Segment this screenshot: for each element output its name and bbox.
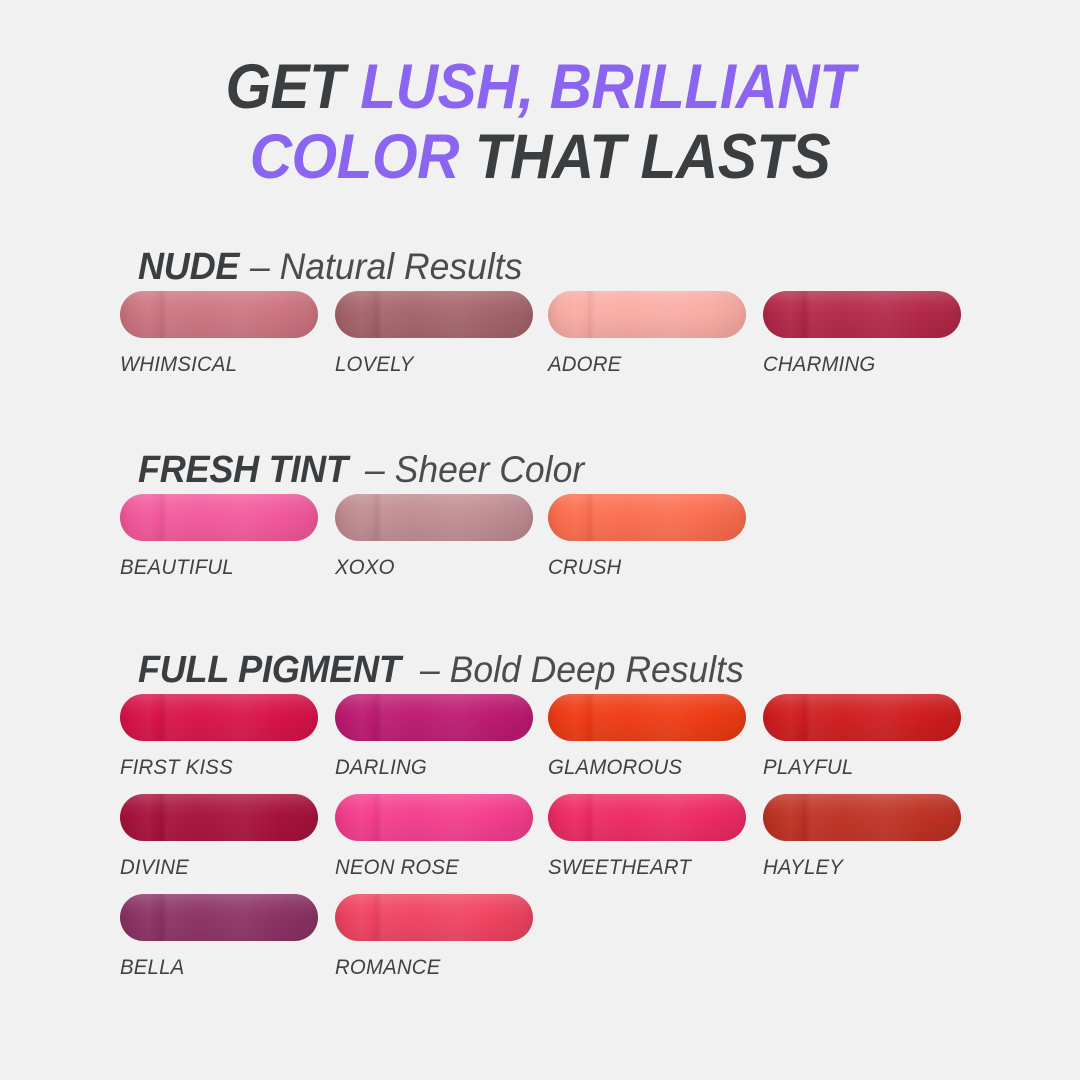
swatch-swipe-darling[interactable]	[335, 694, 533, 741]
swatch-swipe-lovely[interactable]	[335, 291, 533, 338]
headline-text-get: GET	[225, 52, 360, 122]
swatch-cell-sweetheart[interactable]: SWEETHEART	[548, 794, 746, 880]
swatch-label-romance: ROMANCE	[335, 956, 527, 980]
swatch-swipe-sweetheart[interactable]	[548, 794, 746, 841]
swatch-label-darling: DARLING	[335, 756, 527, 780]
section-fresh-tint: FRESH TINT– Sheer Color BEAUTIFUL XOXO C…	[0, 446, 1080, 594]
section-subtitle-fresh-tint: – Sheer Color	[365, 446, 584, 494]
swatch-cell-playful[interactable]: PLAYFUL	[763, 694, 961, 780]
swatch-swipe-adore[interactable]	[548, 291, 746, 338]
swatch-label-hayley: HAYLEY	[763, 856, 955, 880]
swatch-cell-divine[interactable]: DIVINE	[120, 794, 318, 880]
swatch-cell-charming[interactable]: CHARMING	[763, 291, 961, 377]
swatch-cell-beautiful[interactable]: BEAUTIFUL	[120, 494, 318, 580]
section-header-fresh-tint: FRESH TINT– Sheer Color	[138, 446, 1080, 494]
swatch-label-crush: CRUSH	[548, 556, 740, 580]
headline-line-2: COLOR THAT LASTS	[38, 122, 1042, 192]
swatch-swipe-bella[interactable]	[120, 894, 318, 941]
swatch-cell-neon-rose[interactable]: NEON ROSE	[335, 794, 533, 880]
section-title-full-pigment: FULL PIGMENT	[138, 646, 401, 694]
swatch-label-whimsical: WHIMSICAL	[120, 353, 312, 377]
swatch-swipe-hayley[interactable]	[763, 794, 961, 841]
swatch-swipe-divine[interactable]	[120, 794, 318, 841]
section-title-fresh-tint: FRESH TINT	[138, 446, 348, 494]
swatch-cell-romance[interactable]: ROMANCE	[335, 894, 533, 980]
swatch-cell-xoxo[interactable]: XOXO	[335, 494, 533, 580]
swatch-label-bella: BELLA	[120, 956, 312, 980]
section-header-full-pigment: FULL PIGMENT– Bold Deep Results	[138, 646, 1080, 694]
shade-chart-page: GET LUSH, BRILLIANT COLOR THAT LASTS NUD…	[0, 0, 1080, 1080]
swatch-cell-hayley[interactable]: HAYLEY	[763, 794, 961, 880]
swatch-swipe-romance[interactable]	[335, 894, 533, 941]
swatch-label-playful: PLAYFUL	[763, 756, 955, 780]
swatch-label-sweetheart: SWEETHEART	[548, 856, 740, 880]
swatch-cell-adore[interactable]: ADORE	[548, 291, 746, 377]
swatch-row: WHIMSICAL LOVELY ADORE CHARMING	[120, 291, 1080, 391]
swatch-cell-bella[interactable]: BELLA	[120, 894, 318, 980]
swatch-cell-whimsical[interactable]: WHIMSICAL	[120, 291, 318, 377]
section-title-nude: NUDE	[138, 243, 239, 291]
swatch-label-first-kiss: FIRST KISS	[120, 756, 312, 780]
section-header-nude: NUDE– Natural Results	[138, 243, 1080, 291]
page-headline: GET LUSH, BRILLIANT COLOR THAT LASTS	[38, 52, 1042, 192]
headline-text-lush-brilliant: LUSH, BRILLIANT	[360, 52, 854, 122]
section-subtitle-nude: – Natural Results	[250, 243, 522, 291]
swatch-label-beautiful: BEAUTIFUL	[120, 556, 312, 580]
swatch-cell-glamorous[interactable]: GLAMOROUS	[548, 694, 746, 780]
swatch-swipe-first-kiss[interactable]	[120, 694, 318, 741]
swatch-row: DIVINE NEON ROSE SWEETHEART HAYLEY	[120, 794, 1080, 894]
headline-line-1: GET LUSH, BRILLIANT	[38, 52, 1042, 122]
swatch-swipe-beautiful[interactable]	[120, 494, 318, 541]
swatch-cell-first-kiss[interactable]: FIRST KISS	[120, 694, 318, 780]
headline-text-that-lasts: THAT LASTS	[475, 122, 831, 192]
swatch-swipe-charming[interactable]	[763, 291, 961, 338]
swatch-swipe-playful[interactable]	[763, 694, 961, 741]
swatch-swipe-neon-rose[interactable]	[335, 794, 533, 841]
swatch-row: BEAUTIFUL XOXO CRUSH	[120, 494, 1080, 594]
swatch-swipe-xoxo[interactable]	[335, 494, 533, 541]
swatch-cell-crush[interactable]: CRUSH	[548, 494, 746, 580]
swatch-swipe-glamorous[interactable]	[548, 694, 746, 741]
swatch-label-divine: DIVINE	[120, 856, 312, 880]
section-subtitle-full-pigment: – Bold Deep Results	[420, 646, 744, 694]
swatch-label-neon-rose: NEON ROSE	[335, 856, 527, 880]
swatch-swipe-whimsical[interactable]	[120, 291, 318, 338]
swatch-row: FIRST KISS DARLING GLAMOROUS PLAYFUL	[120, 694, 1080, 794]
headline-text-color: COLOR	[250, 122, 475, 192]
swatch-row: BELLA ROMANCE	[120, 894, 1080, 994]
swatch-label-xoxo: XOXO	[335, 556, 527, 580]
section-nude: NUDE– Natural Results WHIMSICAL LOVELY A…	[0, 243, 1080, 391]
swatch-cell-darling[interactable]: DARLING	[335, 694, 533, 780]
swatch-label-adore: ADORE	[548, 353, 740, 377]
swatch-label-glamorous: GLAMOROUS	[548, 756, 740, 780]
swatch-label-charming: CHARMING	[763, 353, 955, 377]
section-full-pigment: FULL PIGMENT– Bold Deep Results FIRST KI…	[0, 646, 1080, 994]
swatch-label-lovely: LOVELY	[335, 353, 527, 377]
swatch-swipe-crush[interactable]	[548, 494, 746, 541]
swatch-cell-lovely[interactable]: LOVELY	[335, 291, 533, 377]
